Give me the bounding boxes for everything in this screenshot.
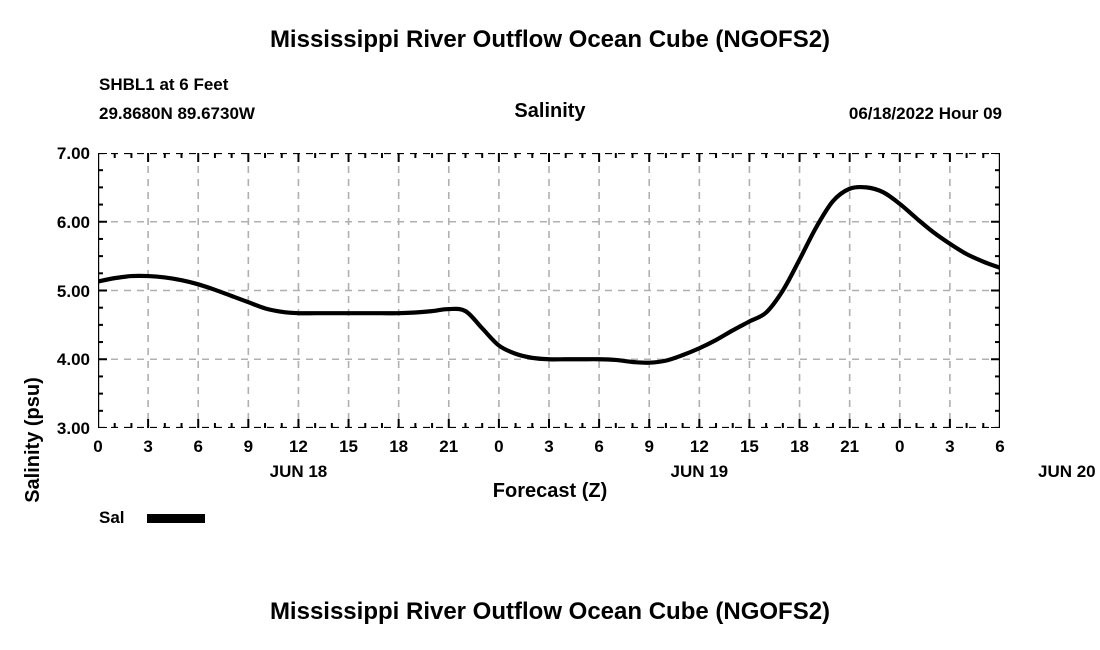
x-tick-label: 15 [729,437,769,457]
x-tick-label: 12 [278,437,318,457]
y-tick-label: 5.00 [20,282,90,302]
x-tick-label: 3 [529,437,569,457]
legend-item-label: Sal [99,508,125,528]
x-tick-label: 3 [930,437,970,457]
legend-line-swatch [147,514,205,523]
page-title-bottom: Mississippi River Outflow Ocean Cube (NG… [0,598,1100,626]
y-tick-label: 6.00 [20,213,90,233]
x-tick-label: 9 [629,437,669,457]
y-axis-title: Salinity (psu) [22,300,45,580]
x-axis-title: Forecast (Z) [0,480,1100,503]
x-tick-label: 12 [679,437,719,457]
x-tick-label: 0 [78,437,118,457]
x-tick-label: 6 [579,437,619,457]
y-tick-label: 4.00 [20,350,90,370]
x-tick-label: 18 [780,437,820,457]
x-tick-label: 3 [128,437,168,457]
x-tick-label: 0 [479,437,519,457]
timestamp-label: 06/18/2022 Hour 09 [849,104,1002,124]
x-tick-label: 21 [830,437,870,457]
chart-svg [98,153,1000,428]
x-day-label: JUN 19 [639,462,759,482]
x-tick-label: 6 [178,437,218,457]
y-tick-label: 7.00 [20,144,90,164]
x-tick-label: 15 [329,437,369,457]
x-tick-label: 9 [228,437,268,457]
x-tick-label: 18 [379,437,419,457]
x-tick-label: 6 [980,437,1020,457]
station-label: SHBL1 at 6 Feet [99,75,228,95]
x-tick-label: 0 [880,437,920,457]
chart-page: Mississippi River Outflow Ocean Cube (NG… [0,0,1100,650]
y-tick-label: 3.00 [20,419,90,439]
plot-area [98,153,1000,428]
x-day-label: JUN 20 [1007,462,1100,482]
x-tick-label: 21 [429,437,469,457]
legend: Sal [99,508,205,528]
x-day-label: JUN 18 [238,462,358,482]
page-title-top: Mississippi River Outflow Ocean Cube (NG… [0,26,1100,54]
